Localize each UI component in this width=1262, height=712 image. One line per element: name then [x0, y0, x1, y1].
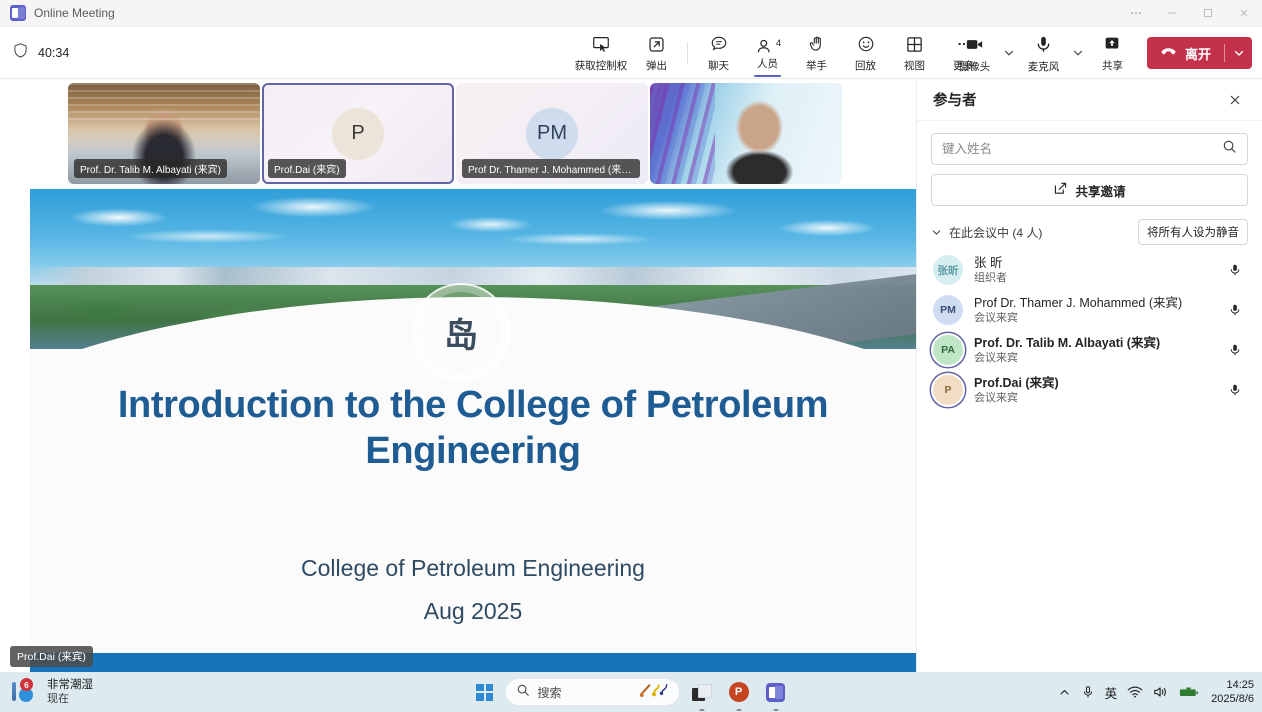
teams-meeting-window: Online Meeting 40:34 [0, 0, 1262, 712]
toolbar-raise-hand-button[interactable]: 举手 [792, 29, 841, 77]
window-close-button[interactable] [1226, 0, 1262, 27]
participant-name: 张 昕 [974, 256, 1007, 271]
mute-all-button[interactable]: 将所有人设为静音 [1138, 219, 1248, 245]
participants-list: 张昕 张 昕 组织者 PM Prof Dr. Thamer J. Mohamme… [931, 250, 1248, 410]
wifi-icon[interactable] [1127, 685, 1143, 699]
video-tile-thamer[interactable]: PM Prof Dr. Thamer J. Mohammed (来宾) [456, 83, 648, 184]
avatar: 张昕 [933, 255, 963, 285]
participant-text: 张 昕 组织者 [974, 256, 1007, 285]
clock-time: 14:25 [1226, 678, 1254, 692]
toolbar-view-button[interactable]: 视图 [890, 29, 939, 77]
leave-meeting-main[interactable]: 离开 [1147, 37, 1224, 69]
meeting-status: 40:34 [12, 27, 69, 79]
participants-section-label: 在此会议中 (4 人) [949, 224, 1042, 241]
taskbar-search-box[interactable]: 搜索 [505, 678, 680, 706]
running-indicator [773, 709, 778, 712]
toolbar-popout-label: 弹出 [646, 61, 667, 72]
teams-icon [766, 683, 785, 702]
share-icon [1102, 34, 1122, 59]
system-tray: 英 14:25 2025/8/6 [1058, 678, 1254, 706]
share-invite-button[interactable]: 共享邀请 [931, 174, 1248, 206]
participant-search-box[interactable] [931, 133, 1248, 165]
video-tile-name: Prof Dr. Thamer J. Mohammed (来宾) [462, 159, 640, 178]
leave-options-chevron-down-icon[interactable] [1225, 37, 1252, 69]
avatar-initials: PM [526, 108, 578, 160]
slide-subtitle-college: College of Petroleum Engineering [90, 555, 856, 582]
toolbar-camera-label: 摄像头 [959, 62, 991, 73]
title-bar-left: Online Meeting [0, 5, 115, 21]
banner-clouds [30, 193, 916, 263]
close-icon[interactable] [1222, 87, 1248, 113]
toolbar-right-controls: 摄像头 麦克风 共享 [950, 27, 1252, 79]
shield-icon [12, 42, 29, 64]
leave-meeting-button[interactable]: 离开 [1147, 37, 1252, 69]
folder-icon [692, 684, 712, 701]
video-tile-name: Prof.Dai (来宾) [268, 159, 346, 178]
toolbar-take-control-label: 获取控制权 [575, 61, 628, 72]
video-tile-dai[interactable]: P Prof.Dai (来宾) [262, 83, 454, 184]
slide-bottom-bar [30, 653, 916, 672]
hangup-icon [1159, 42, 1178, 64]
slide-title: Introduction to the College of Petroleum… [90, 382, 856, 474]
toolbar-raise-hand-label: 举手 [806, 61, 827, 72]
people-icon: 4 [755, 37, 780, 57]
meeting-timer: 40:34 [38, 46, 69, 60]
teams-icon [10, 5, 26, 21]
camera-options-chevron-down-icon[interactable] [999, 33, 1019, 73]
video-tile-organizer[interactable] [650, 83, 842, 184]
toolbar-view-label: 视图 [904, 61, 925, 72]
participant-role: 组织者 [974, 271, 1007, 285]
windows-taskbar: 6 非常潮湿 现在 搜索 [0, 672, 1262, 712]
microphone-options-chevron-down-icon[interactable] [1068, 33, 1088, 73]
toolbar-reactions-label: 回放 [855, 61, 876, 72]
search-input[interactable] [942, 142, 1222, 156]
window-more-button[interactable] [1118, 0, 1154, 27]
participant-role: 会议来宾 [974, 311, 1182, 325]
toolbar-chat-button[interactable]: 聊天 [694, 29, 743, 77]
title-bar: Online Meeting [0, 0, 1262, 27]
participants-panel-body: 共享邀请 在此会议中 (4 人) 将所有人设为静音 张昕 张 昕 组织者 [917, 121, 1262, 410]
avatar: PM [933, 295, 963, 325]
share-invite-icon [1053, 181, 1068, 199]
running-indicator [736, 709, 741, 712]
toolbar-share-button[interactable]: 共享 [1088, 29, 1137, 77]
battery-icon[interactable] [1179, 686, 1199, 699]
list-item[interactable]: PM Prof Dr. Thamer J. Mohammed (来宾) 会议来宾 [931, 290, 1248, 330]
toolbar-share-label: 共享 [1102, 61, 1123, 72]
toolbar-take-control-button[interactable]: 获取控制权 [570, 29, 632, 77]
taskbar-app-teams[interactable] [761, 677, 791, 707]
slide-subtitle-date: Aug 2025 [90, 598, 856, 625]
take-control-icon [591, 34, 611, 59]
video-tile-strip: Prof. Dr. Talib M. Albayati (来宾) P Prof.… [68, 83, 842, 184]
music-widget-icon[interactable] [639, 681, 669, 704]
shared-content-area[interactable]: 岛 Introduction to the College of Petrole… [30, 189, 916, 672]
search-icon[interactable] [1222, 139, 1237, 159]
search-icon [516, 683, 530, 702]
avatar: P [933, 375, 963, 405]
video-tile-name: Prof. Dr. Talib M. Albayati (来宾) [74, 159, 227, 178]
presenter-name-chip: Prof.Dai (来宾) [10, 646, 93, 667]
microphone-icon[interactable] [1224, 383, 1246, 397]
chevron-up-icon[interactable] [1058, 686, 1071, 699]
window-controls [1118, 0, 1262, 27]
toolbar-people-label: 人员 [757, 59, 778, 70]
leave-meeting-label: 离开 [1185, 44, 1211, 63]
taskbar-app-powerpoint[interactable]: P [724, 677, 754, 707]
people-count-badge: 4 [776, 38, 781, 49]
microphone-icon [1033, 34, 1054, 60]
participant-text: Prof Dr. Thamer J. Mohammed (来宾) 会议来宾 [974, 296, 1182, 325]
participant-text: Prof. Dr. Talib M. Albayati (来宾) 会议来宾 [974, 336, 1160, 365]
volume-icon[interactable] [1153, 685, 1169, 699]
share-invite-label: 共享邀请 [1075, 181, 1125, 200]
window-title: Online Meeting [34, 6, 115, 20]
pop-out-icon [647, 35, 666, 59]
participant-name: Prof.Dai (来宾) [974, 376, 1059, 391]
microphone-icon[interactable] [1224, 303, 1246, 317]
camera-icon [964, 34, 985, 60]
windows-logo-shape [476, 684, 493, 701]
participants-panel: 参与者 共享邀请 在此会议中 (4 人) [916, 79, 1262, 672]
taskbar-search-placeholder: 搜索 [538, 684, 631, 701]
view-icon [905, 35, 924, 59]
list-item[interactable]: PA Prof. Dr. Talib M. Albayati (来宾) 会议来宾 [931, 330, 1248, 370]
toolbar-popout-button[interactable]: 弹出 [632, 29, 681, 77]
toolbar-chat-label: 聊天 [708, 61, 729, 72]
participant-name: Prof. Dr. Talib M. Albayati (来宾) [974, 336, 1160, 351]
window-minimize-button[interactable] [1154, 0, 1190, 27]
list-item[interactable]: P Prof.Dai (来宾) 会议来宾 [931, 370, 1248, 410]
list-item[interactable]: 张昕 张 昕 组织者 [931, 250, 1248, 290]
toolbar-camera-button[interactable]: 摄像头 [950, 29, 999, 77]
chevron-down-icon[interactable] [931, 227, 949, 238]
participant-name: Prof Dr. Thamer J. Mohammed (来宾) [974, 296, 1182, 311]
microphone-icon[interactable] [1224, 343, 1246, 357]
toolbar-people-button[interactable]: 4 人员 [743, 29, 792, 77]
video-tile-talib[interactable]: Prof. Dr. Talib M. Albayati (来宾) [68, 83, 260, 184]
taskbar-app-file-explorer[interactable] [687, 677, 717, 707]
participant-role: 会议来宾 [974, 391, 1059, 405]
toolbar-center-buttons: 获取控制权 弹出 聊天 4 人员 [570, 27, 988, 79]
participant-text: Prof.Dai (来宾) 会议来宾 [974, 376, 1059, 405]
participant-video-feed [650, 83, 842, 184]
chat-icon [709, 34, 729, 59]
raise-hand-icon [807, 34, 827, 59]
microphone-icon[interactable] [1224, 263, 1246, 277]
windows-start-icon[interactable] [472, 679, 498, 705]
microphone-icon[interactable] [1081, 685, 1095, 699]
participants-section-header[interactable]: 在此会议中 (4 人) 将所有人设为静音 [931, 220, 1248, 244]
participant-role: 会议来宾 [974, 351, 1160, 365]
taskbar-clock[interactable]: 14:25 2025/8/6 [1211, 678, 1254, 706]
avatar: PA [933, 335, 963, 365]
window-maximize-button[interactable] [1190, 0, 1226, 27]
toolbar-reactions-button[interactable]: 回放 [841, 29, 890, 77]
reactions-icon [856, 34, 876, 59]
meeting-toolbar: 40:34 获取控制权 弹出 聊天 [0, 27, 1262, 79]
running-indicator [699, 709, 704, 712]
powerpoint-icon: P [729, 682, 749, 702]
participants-panel-header: 参与者 [917, 79, 1262, 121]
toolbar-microphone-label: 麦克风 [1028, 62, 1060, 73]
participants-panel-title: 参与者 [933, 89, 977, 110]
clock-date: 2025/8/6 [1211, 692, 1254, 706]
toolbar-microphone-button[interactable]: 麦克风 [1019, 29, 1068, 77]
university-emblem-icon: 岛 [412, 283, 510, 381]
avatar-initials: P [332, 108, 384, 160]
ime-indicator[interactable]: 英 [1105, 683, 1118, 702]
toolbar-divider-1 [687, 42, 688, 64]
